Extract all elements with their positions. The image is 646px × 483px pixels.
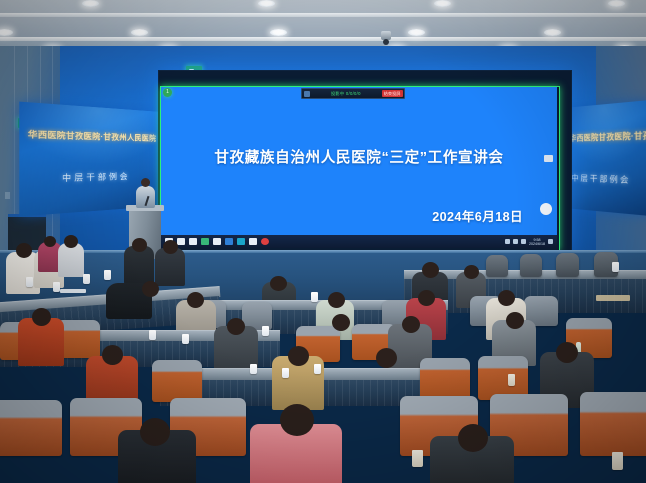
clock-date: 2024/6/18 [529, 242, 545, 246]
floating-window-icon[interactable] [544, 155, 553, 162]
taskview-icon[interactable] [189, 238, 197, 245]
attendee-head [102, 345, 123, 365]
right-led-banner: 华西医院甘孜医院·甘孜州人民医院 中层干部例会 [564, 100, 646, 216]
attendee-head [227, 318, 245, 335]
attendee-head [132, 238, 147, 252]
head-table-chair [556, 253, 579, 277]
water-cup [314, 364, 321, 374]
attendee-head [418, 290, 435, 306]
ceiling-light [258, 0, 275, 7]
network-icon[interactable] [513, 239, 518, 244]
stop-casting-button[interactable]: 结束投屏 [382, 90, 403, 97]
document [60, 289, 86, 293]
head-table-chair [486, 255, 508, 277]
audience-chair [580, 392, 646, 456]
attendee-head [556, 342, 578, 363]
head-table-chair [520, 254, 542, 277]
water-cup [508, 374, 515, 386]
water-cup [412, 450, 423, 467]
attendee-head [288, 346, 309, 366]
audience-chair [420, 358, 470, 400]
attendee-head [32, 308, 51, 326]
explorer-icon[interactable] [201, 238, 209, 245]
attendee-head [332, 314, 350, 331]
system-tray[interactable]: 9:58 2024/6/18 [505, 238, 557, 246]
attendee-head [458, 424, 488, 452]
casting-status-text: 投影中 0/0/0/0 [310, 91, 382, 97]
attendee-head [376, 348, 397, 368]
attendee-head [270, 276, 287, 291]
notification-icon[interactable] [548, 239, 553, 244]
water-cup [311, 292, 318, 302]
water-cup [612, 452, 623, 470]
ceiling-light [408, 29, 425, 36]
ceiling-light [82, 0, 99, 7]
edge-icon[interactable] [213, 238, 221, 245]
attendee-head [16, 243, 32, 258]
ceiling-light [0, 29, 13, 36]
app-teal-icon[interactable] [237, 238, 245, 245]
document [596, 295, 630, 301]
slide-title: 甘孜藏族自治州人民医院“三定”工作宣讲会 [161, 146, 557, 167]
water-cup [26, 277, 33, 287]
water-cup [262, 326, 269, 336]
taskbar-clock[interactable]: 9:58 2024/6/18 [529, 238, 545, 246]
search-icon[interactable] [177, 238, 185, 245]
cursor-highlight [540, 203, 552, 215]
water-cup [104, 270, 111, 280]
attendee-head [422, 262, 439, 278]
attendee-head [402, 316, 420, 333]
attendee-head [64, 235, 78, 248]
water-cup [182, 334, 189, 344]
conference-hall-photo: 华西医院甘孜医院·甘孜州人民医院 中层干部例会 华西医院甘孜医院·甘孜州人民医院… [0, 0, 646, 483]
water-cup [53, 282, 60, 292]
record-icon[interactable] [261, 238, 269, 245]
screen-badge: 1 [163, 88, 172, 97]
water-cup [83, 274, 90, 284]
casting-dialog[interactable]: 投影中 0/0/0/0 结束投屏 [301, 88, 405, 99]
chevron-up-icon[interactable] [505, 239, 510, 244]
attendee-head [464, 265, 479, 279]
attendee-head [498, 290, 515, 306]
ceiling-beam [0, 37, 646, 41]
right-banner-line2: 中层干部例会 [571, 172, 646, 187]
audience-chair [0, 400, 62, 456]
attendee-head [142, 281, 159, 297]
window-icon[interactable] [249, 238, 257, 245]
stage-edge [0, 250, 646, 253]
ceiling-light [270, 29, 287, 36]
ceiling-light [131, 29, 148, 36]
presentation-screen[interactable]: 1 投影中 0/0/0/0 结束投屏 甘孜藏族自治州人民医院“三定”工作宣讲会 … [161, 87, 557, 248]
volume-icon[interactable] [521, 239, 526, 244]
ceiling-light [544, 29, 561, 36]
app-blue-icon[interactable] [225, 238, 233, 245]
attendee-head [328, 292, 345, 308]
ceiling-light [608, 0, 625, 7]
ceiling-light [434, 0, 451, 7]
attendee-head [163, 240, 178, 254]
water-cup [282, 368, 289, 378]
ceiling [0, 0, 646, 52]
windows-taskbar[interactable]: 9:58 2024/6/18 [161, 235, 557, 248]
water-cup [149, 330, 156, 340]
attendee-head [140, 418, 170, 446]
attendee-head [280, 404, 314, 436]
wall-switch[interactable] [5, 192, 10, 199]
attendee [58, 243, 84, 277]
attendee-head [44, 236, 56, 247]
attendee-head [506, 312, 524, 329]
audience-chair [152, 360, 202, 402]
water-cup [612, 262, 619, 272]
attendee-head [187, 292, 204, 308]
water-cup [250, 364, 257, 374]
ceiling-camera-icon [381, 31, 391, 40]
ceiling-beam [0, 13, 646, 17]
slide-date: 2024年6月18日 [432, 206, 523, 225]
